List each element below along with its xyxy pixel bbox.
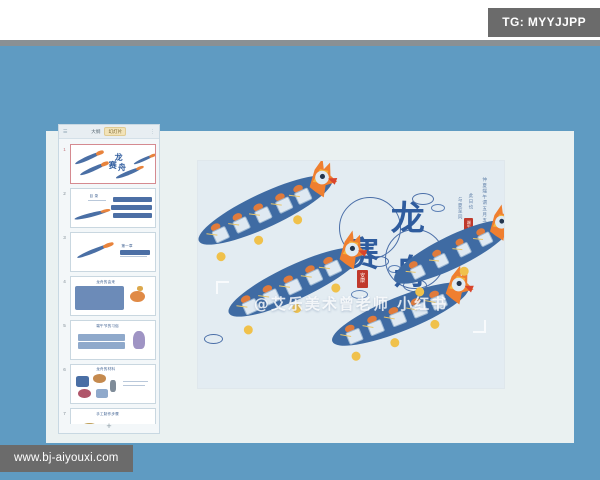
slide-number-3: 3 (61, 232, 68, 240)
thumb-bullet-bar (78, 342, 125, 349)
thumb-boat (133, 154, 154, 166)
thumb-bullet-bar (113, 197, 152, 202)
thumb-title: 端午节的习俗 (96, 324, 119, 329)
dragon-boat-2[interactable] (222, 236, 370, 329)
thumb-bullet-bar (120, 250, 150, 255)
slide-thumbnail-5[interactable]: 5 端午节的习俗 (59, 318, 159, 362)
thumb-title: 第一章 (121, 244, 132, 249)
paddle-splash (330, 282, 342, 294)
paddle-splash (350, 351, 362, 363)
slide-thumbnail-6[interactable]: 6 龙舟的材料 (59, 362, 159, 406)
slide-preview-4: 龙舟的由来 (70, 276, 156, 316)
slide-thumbnail-list[interactable]: 1 龙 赛 舟 2 目 录 (59, 139, 159, 424)
thumb-rule (123, 385, 145, 386)
slide-preview-6: 龙舟的材料 (70, 364, 156, 404)
slide-canvas[interactable]: 龙 赛 舟 仲夏端午谓五月五日也 此日也 与夏至同 端 午 安 康 (198, 161, 504, 388)
watermark-bracket-top-left (216, 281, 229, 294)
thumb-image-accent (137, 286, 144, 291)
thumb-boat (77, 242, 111, 259)
slide-canvas-container[interactable]: 龙 赛 舟 仲夏端午谓五月五日也 此日也 与夏至同 端 午 安 康 (198, 161, 504, 388)
thumb-rule (123, 381, 148, 382)
slide-preview-2: 目 录 (70, 188, 156, 228)
dragon-boat-1[interactable] (198, 163, 339, 256)
presentation-editor: ☰ 大纲 幻灯片 ⋮ 1 龙 赛 (46, 131, 574, 443)
paddle-splash (428, 319, 440, 331)
slide-navigator-panel[interactable]: ☰ 大纲 幻灯片 ⋮ 1 龙 赛 (58, 124, 160, 434)
paddle-splash (243, 324, 255, 336)
more-options-icon[interactable]: ⋮ (150, 129, 155, 135)
thumb-rule (120, 256, 147, 257)
slide-thumbnail-3[interactable]: 3 第一章 (59, 230, 159, 274)
site-watermark-badge: www.bj-aiyouxi.com (0, 445, 133, 472)
thumb-title: 龙舟的由来 (96, 280, 115, 285)
seal-char-bottom: 康 (360, 279, 365, 284)
paddle-splash (292, 214, 304, 226)
slide-number-4: 4 (61, 276, 68, 284)
paddle-splash (215, 250, 227, 262)
thumb-title-char: 舟 (118, 162, 126, 173)
paddle-splash (252, 234, 264, 246)
slide-number-6: 6 (61, 364, 68, 372)
tg-watermark-badge: TG: MYYJJPP (488, 8, 600, 37)
title-char-long: 龙 (391, 202, 425, 236)
thumb-material (93, 374, 106, 383)
thumb-image (130, 291, 145, 302)
slide-number-2: 2 (61, 188, 68, 196)
add-slide-button[interactable]: + (59, 421, 159, 431)
thumb-bullet-bar (111, 205, 151, 210)
slide-number-1: 1 (61, 144, 68, 152)
slide-number-5: 5 (61, 320, 68, 328)
thumb-text-box (75, 286, 124, 310)
thumb-boat (74, 209, 108, 221)
slide-preview-5: 端午节的习俗 (70, 320, 156, 360)
slide-thumbnail-4[interactable]: 4 龙舟的由来 (59, 274, 159, 318)
thumb-rule (88, 200, 106, 201)
thumb-bullet-bar (113, 213, 152, 218)
tab-outline[interactable]: 大纲 (91, 129, 100, 135)
thumb-title-char: 赛 (109, 160, 117, 171)
slide-thumbnail-1[interactable]: 1 龙 赛 舟 (59, 142, 159, 186)
paddle-splash (291, 303, 303, 315)
thumb-bullet-bar (78, 334, 125, 341)
thumb-material (110, 380, 117, 391)
paddle-splash (388, 337, 400, 349)
thumb-title: 目 录 (89, 194, 98, 199)
thumb-material (76, 376, 89, 387)
slide-preview-3: 第一章 (70, 232, 156, 272)
tab-slides-active[interactable]: 幻灯片 (104, 127, 126, 136)
slide-number-7: 7 (61, 408, 68, 416)
app-desktop-background: ☰ 大纲 幻灯片 ⋮ 1 龙 赛 (0, 46, 600, 480)
slide-preview-1: 龙 赛 舟 (70, 144, 156, 184)
thumb-boat (80, 161, 108, 176)
thumb-title: 手工制作步骤 (96, 412, 119, 417)
thumb-material (78, 389, 91, 399)
slide-thumbnail-2[interactable]: 2 目 录 (59, 186, 159, 230)
cloud-icon (351, 290, 368, 299)
thumb-title: 龙舟的材料 (96, 367, 115, 372)
thumb-material (96, 389, 108, 398)
thumb-figure (133, 331, 145, 349)
cloud-icon (204, 334, 223, 344)
thumb-boat (75, 150, 103, 165)
cloud-icon (431, 204, 445, 212)
navigator-toolbar: ☰ 大纲 幻灯片 ⋮ (59, 125, 159, 139)
watermark-bracket-bottom-right (473, 320, 486, 333)
hamburger-icon[interactable]: ☰ (63, 129, 67, 135)
